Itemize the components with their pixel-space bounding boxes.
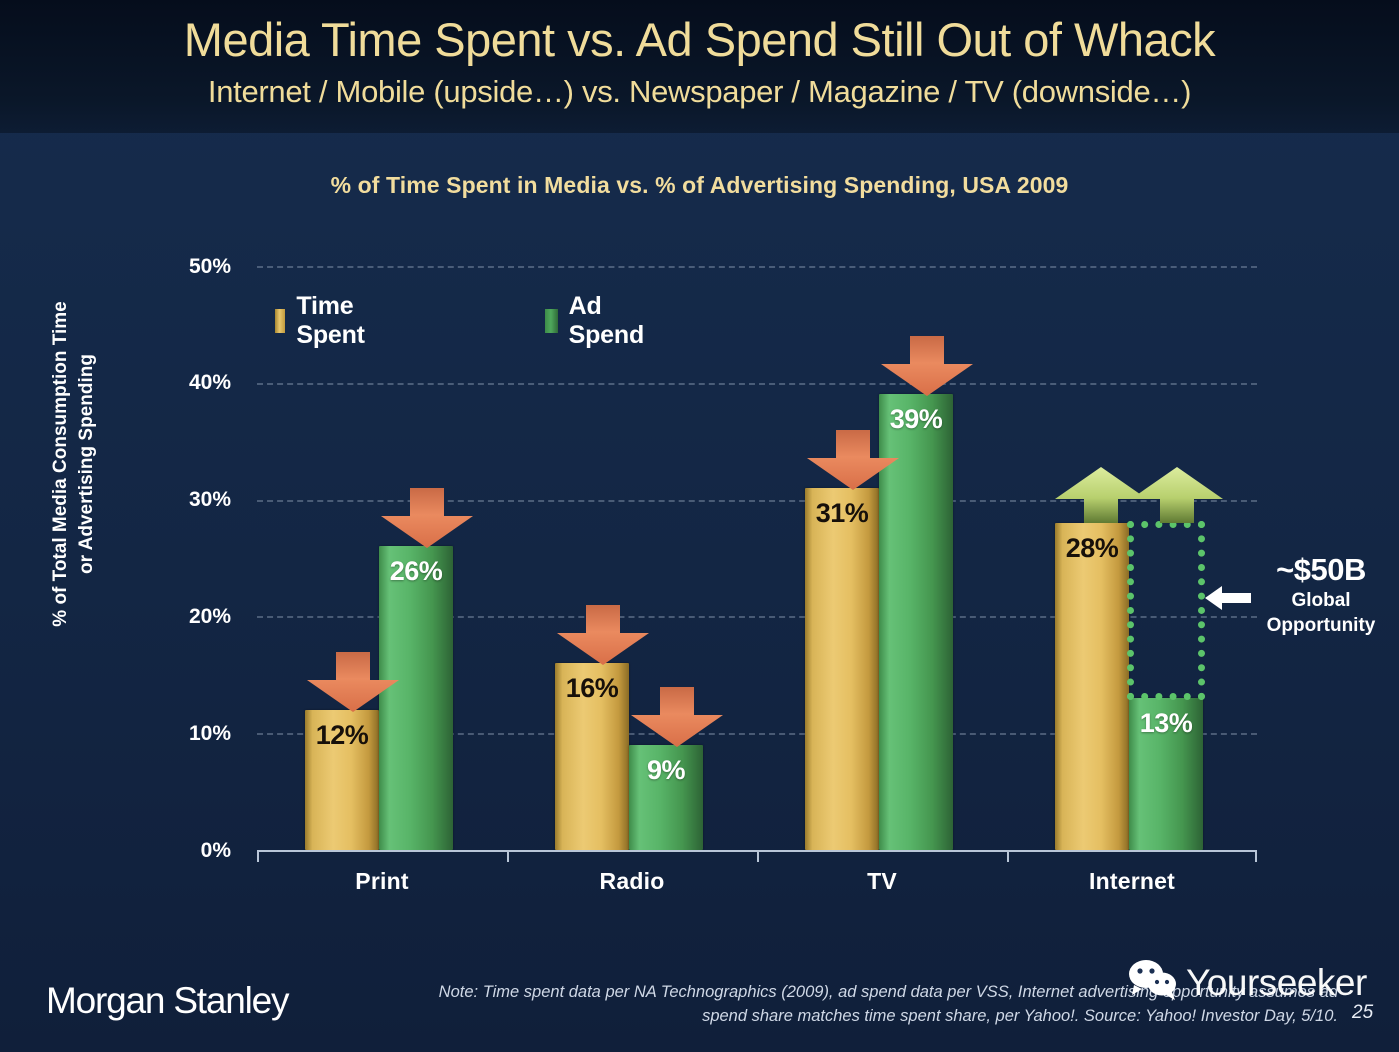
y-axis-title-line2: or Advertising Spending <box>74 204 100 724</box>
x-axis-label-print: Print <box>257 868 507 895</box>
x-axis-tick-start <box>257 850 259 862</box>
x-axis-label-radio: Radio <box>507 868 757 895</box>
bar-label-radio-ad-spend: 9% <box>629 755 703 786</box>
bar-label-print-time-spent: 12% <box>305 720 379 751</box>
y-tick-20: 20% <box>111 606 231 627</box>
y-axis-title: % of Total Media Consumption Time or Adv… <box>48 204 108 724</box>
gridline-50 <box>257 266 1257 268</box>
bar-label-print-ad-spend: 26% <box>379 556 453 587</box>
page-number: 25 <box>1352 1002 1373 1024</box>
bar-label-tv-time-spent: 31% <box>805 498 879 529</box>
page-title: Media Time Spent vs. Ad Spend Still Out … <box>0 12 1399 67</box>
down-arrow-print-ad-spend <box>379 488 475 550</box>
page-subtitle: Internet / Mobile (upside…) vs. Newspape… <box>0 74 1399 110</box>
bar-label-internet-time-spent: 28% <box>1055 533 1129 564</box>
x-axis-label-tv: TV <box>757 868 1007 895</box>
down-arrow-print-time-spent <box>305 652 401 714</box>
footnote: Note: Time spent data per NA Technograph… <box>318 980 1338 1028</box>
down-arrow-radio-ad-spend <box>629 687 725 749</box>
x-axis-tick-1 <box>507 850 509 862</box>
y-tick-40: 40% <box>111 372 231 393</box>
bar-internet-ad-spend[interactable]: 13% <box>1129 698 1203 850</box>
legend-item-ad-spend[interactable]: Ad Spend <box>545 292 649 350</box>
opportunity-amount: ~$50B <box>1243 552 1399 588</box>
bar-radio-ad-spend[interactable]: 9% <box>629 745 703 850</box>
legend-swatch-ad-spend <box>545 309 558 333</box>
slide-header: Media Time Spent vs. Ad Spend Still Out … <box>0 0 1399 133</box>
down-arrow-tv-ad-spend <box>879 336 975 398</box>
up-arrow-internet-ad-spend <box>1129 467 1225 525</box>
y-tick-10: 10% <box>111 723 231 744</box>
bar-internet-time-spent[interactable]: 28% <box>1055 523 1129 850</box>
x-axis-tick-2 <box>757 850 759 862</box>
chart-title: % of Time Spent in Media vs. % of Advert… <box>0 172 1399 199</box>
bar-tv-time-spent[interactable]: 31% <box>805 488 879 850</box>
y-axis-title-line1: % of Total Media Consumption Time <box>48 204 74 724</box>
legend-label-time-spent: Time Spent <box>296 292 372 350</box>
footnote-line1: Note: Time spent data per NA Technograph… <box>318 980 1338 1004</box>
bar-print-time-spent[interactable]: 12% <box>305 710 379 850</box>
bar-label-radio-time-spent: 16% <box>555 673 629 704</box>
legend-swatch-time-spent <box>275 309 285 333</box>
x-axis-label-internet: Internet <box>1007 868 1257 895</box>
y-tick-30: 30% <box>111 489 231 510</box>
y-tick-0: 0% <box>111 840 231 861</box>
bar-label-internet-ad-spend: 13% <box>1129 708 1203 739</box>
footnote-line2: spend share matches time spent share, pe… <box>318 1004 1338 1028</box>
x-axis-tick-end <box>1255 850 1257 862</box>
plot-area: 12% 26% 16% 9% 31% 39% 28% 13% <box>257 266 1257 850</box>
down-arrow-tv-time-spent <box>805 430 901 492</box>
legend-label-ad-spend: Ad Spend <box>569 292 650 350</box>
opportunity-callout: ~$50B Global Opportunity <box>1243 552 1399 638</box>
morgan-stanley-logo: Morgan Stanley <box>46 980 288 1022</box>
y-tick-50: 50% <box>111 256 231 277</box>
opportunity-gap-box <box>1127 521 1205 700</box>
legend-item-time-spent[interactable]: Time Spent <box>275 292 372 350</box>
slide: Media Time Spent vs. Ad Spend Still Out … <box>0 0 1399 1052</box>
down-arrow-radio-time-spent <box>555 605 651 667</box>
opportunity-line2: Global <box>1243 588 1399 613</box>
x-axis-tick-3 <box>1007 850 1009 862</box>
gridline-40 <box>257 383 1257 385</box>
opportunity-line3: Opportunity <box>1243 613 1399 638</box>
bar-radio-time-spent[interactable]: 16% <box>555 663 629 850</box>
